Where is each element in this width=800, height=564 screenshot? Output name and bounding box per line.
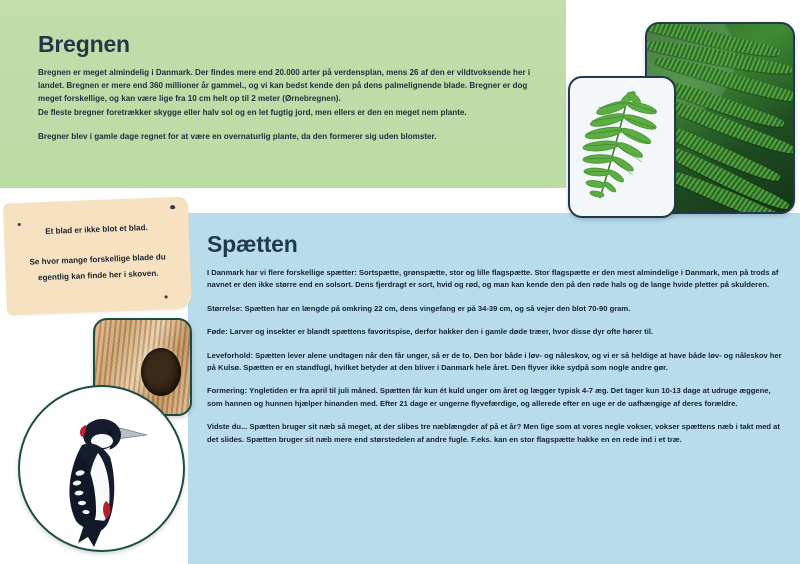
fact-label-food: Føde:	[207, 327, 228, 336]
woodpecker-intro-paragraph: I Danmark har vi flere forskellige spætt…	[207, 267, 788, 292]
fern-section-panel: Bregnen Bregnen er meget almindelig i Da…	[0, 0, 566, 188]
woodpecker-fact-size: Størrelse: Spætten har en længde på omkr…	[207, 303, 788, 315]
fact-text-didyouknow: Spætten bruger sit næb så meget, at der …	[207, 422, 780, 443]
fact-label-habitat: Leveforhold:	[207, 351, 253, 360]
woodpecker-illustration	[20, 387, 183, 550]
fact-text-habitat: Spætten lever alene undtagen når den får…	[207, 351, 782, 372]
fact-label-size: Størrelse:	[207, 304, 242, 313]
woodpecker-section-title: Spætten	[207, 231, 298, 258]
woodpecker-fact-breeding: Formering: Yngletiden er fra april til j…	[207, 385, 788, 410]
nest-hole	[141, 348, 181, 396]
sticky-note-line1: Et blad er ikke blot et blad.	[18, 219, 175, 241]
woodpecker-section-panel: Spætten I Danmark har vi flere forskelli…	[188, 213, 800, 564]
fern-leaf-illustration	[570, 78, 674, 216]
sticky-note-text: Et blad er ikke blot et blad. Se hvor ma…	[3, 196, 192, 315]
woodpecker-fact-didyouknow: Vidste du... Spætten bruger sit næb så m…	[207, 421, 788, 446]
fern-paragraph-3: Bregner blev i gamle dage regnet for at …	[38, 130, 532, 143]
fern-paragraph-2: De fleste bregner foretrækker skygge ell…	[38, 106, 532, 119]
dot-decoration-icon	[170, 205, 175, 209]
woodpecker-fact-food: Føde: Larver og insekter er blandt spætt…	[207, 326, 788, 338]
sticky-note-line2: Se hvor mange forskellige blade du egent…	[19, 249, 177, 287]
fact-text-breeding: Yngletiden er fra april til juli måned. …	[207, 386, 771, 407]
document-page: Bregnen Bregnen er meget almindelig i Da…	[0, 0, 800, 564]
fern-illustration-card	[568, 76, 676, 218]
sticky-note: Et blad er ikke blot et blad. Se hvor ma…	[3, 196, 192, 315]
woodpecker-section-body: I Danmark har vi flere forskellige spætt…	[207, 267, 788, 457]
fern-paragraph-1: Bregnen er meget almindelig i Danmark. D…	[38, 66, 532, 106]
fact-label-didyouknow: Vidste du...	[207, 422, 247, 431]
fern-section-title: Bregnen	[38, 31, 130, 58]
fern-section-body: Bregnen er meget almindelig i Danmark. D…	[38, 66, 532, 154]
woodpecker-fact-habitat: Leveforhold: Spætten lever alene undtage…	[207, 350, 788, 375]
fact-text-size: Spætten har en længde på omkring 22 cm, …	[242, 304, 630, 313]
fact-label-breeding: Formering:	[207, 386, 247, 395]
woodpecker-illustration-circle	[18, 385, 185, 552]
dot-decoration-icon	[18, 223, 21, 226]
fact-text-food: Larver og insekter er blandt spættens fa…	[228, 327, 653, 336]
